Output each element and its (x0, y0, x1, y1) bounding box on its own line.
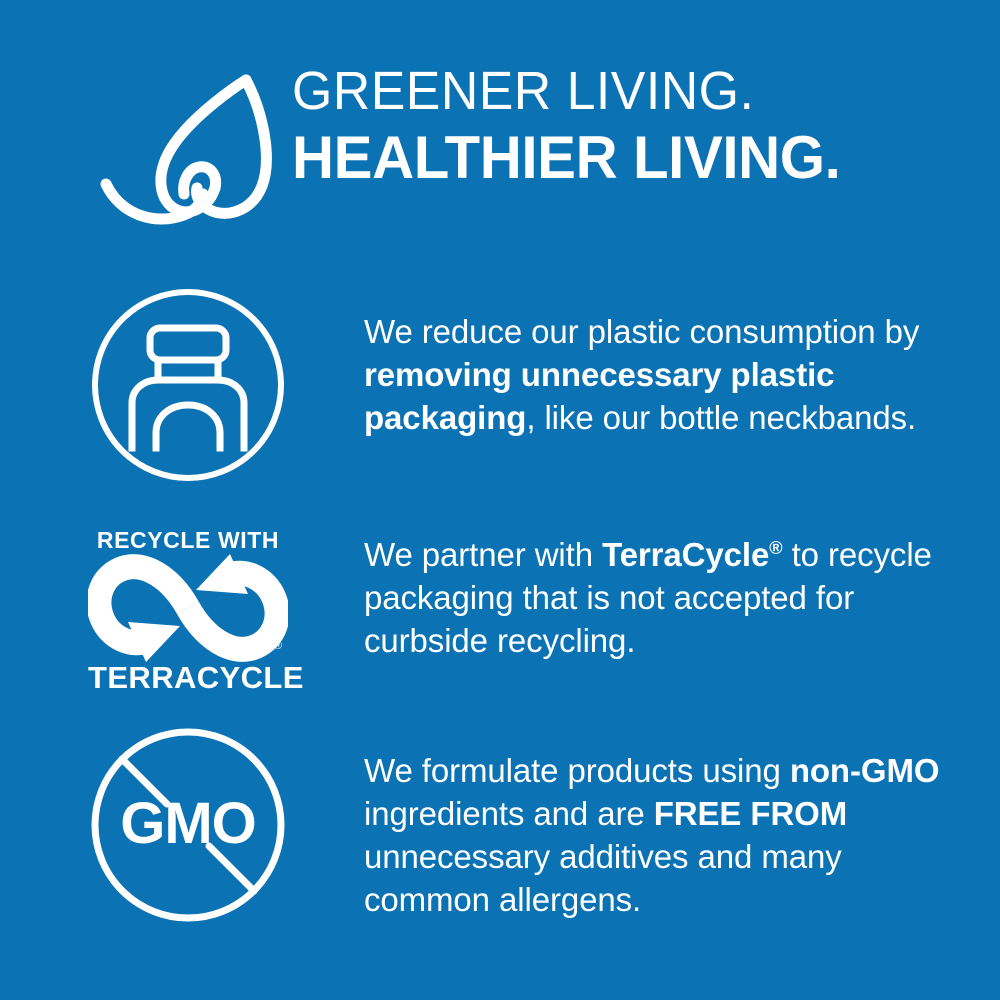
feature-text-segment: unnecessary additives and many common al… (364, 838, 842, 918)
feature-text-segment: , like our bottle neckbands. (526, 399, 916, 436)
feature-text-segment: We reduce our plastic consumption by (364, 313, 919, 350)
no-gmo-icon: GMO (88, 725, 288, 925)
feature-text-segment: ingredients and are (364, 795, 654, 832)
gmo-label: GMO (120, 791, 256, 856)
infinity-recycle-arrows-icon (88, 554, 288, 662)
bottle-in-circle-icon (88, 285, 288, 485)
feature-text-segment-bold: FREE FROM (654, 795, 847, 832)
feature-text-plastic: We reduce our plastic consumption by rem… (364, 310, 974, 439)
feature-text-segment: We partner with (364, 536, 602, 573)
feature-text-segment-bold: TerraCycle® (602, 536, 782, 573)
feature-row-plastic: We reduce our plastic consumption by rem… (0, 285, 1000, 485)
feature-row-terracycle: RECYCLE WITH ® TERRACYCLE We partner wit… (0, 510, 1000, 705)
feature-row-gmo: GMO We formulate products using non-GMO … (0, 725, 1000, 935)
terracycle-bottom-label: TERRACYCLE (88, 660, 288, 696)
terracycle-top-label: RECYCLE WITH (88, 527, 288, 554)
feature-text-segment: We formulate products using (364, 752, 790, 789)
registered-mark: ® (769, 538, 782, 558)
headline-line-1: GREENER LIVING. (292, 62, 926, 120)
leaf-icon (96, 68, 296, 228)
terracycle-logo: RECYCLE WITH ® TERRACYCLE (88, 512, 288, 700)
headline-line-2: HEALTHIER LIVING. (292, 126, 932, 190)
terracycle-brand-name: TerraCycle (602, 536, 769, 573)
feature-text-segment-bold: non-GMO (790, 752, 940, 789)
greener-living-poster: GREENER LIVING. HEALTHIER LIVING. We red… (0, 0, 1000, 1000)
headline-text-group: GREENER LIVING. HEALTHIER LIVING. (292, 62, 952, 190)
feature-text-gmo: We formulate products using non-GMO ingr… (364, 749, 974, 921)
terracycle-registered-mark: ® (274, 640, 282, 652)
headline-block: GREENER LIVING. HEALTHIER LIVING. (0, 62, 1000, 222)
feature-text-terracycle: We partner with TerraCycle® to recycle p… (364, 533, 974, 662)
